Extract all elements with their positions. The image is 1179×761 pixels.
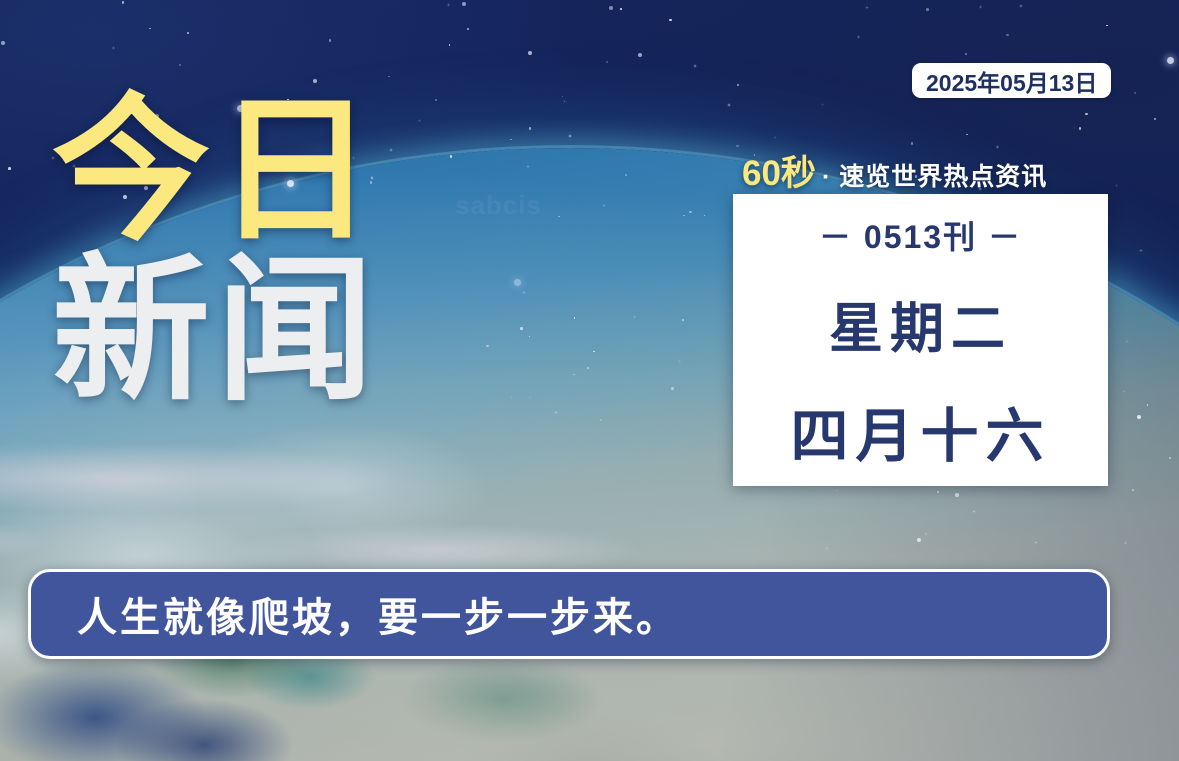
quote-text: 人生就像爬坡，要一步一步来。 — [77, 585, 679, 643]
date-info-card: － 0513刊 － 星期二 四月十六 — [733, 194, 1108, 486]
weekday-label: 星期二 — [829, 284, 1012, 363]
date-badge: 2025年05月13日 — [912, 63, 1111, 98]
issue-number: － 0513刊 － — [819, 212, 1022, 258]
title-line-news: 新闻 — [52, 256, 380, 408]
lunar-date-label: 四月十六 — [790, 389, 1050, 473]
watermark-text: sabcis — [455, 190, 542, 221]
news-poster: sabcis 今日 新闻 2025年05月13日 60秒 · 速览世界热点资讯 … — [0, 0, 1179, 761]
quote-bar: 人生就像爬坡，要一步一步来。 — [28, 569, 1110, 659]
tagline-seconds: 60秒 — [742, 145, 816, 196]
tagline: 60秒 · 速览世界热点资讯 — [742, 145, 1047, 196]
title-line-today: 今日 — [52, 96, 380, 248]
poster-title: 今日 新闻 — [52, 96, 380, 407]
tagline-description: · 速览世界热点资讯 — [822, 157, 1047, 193]
